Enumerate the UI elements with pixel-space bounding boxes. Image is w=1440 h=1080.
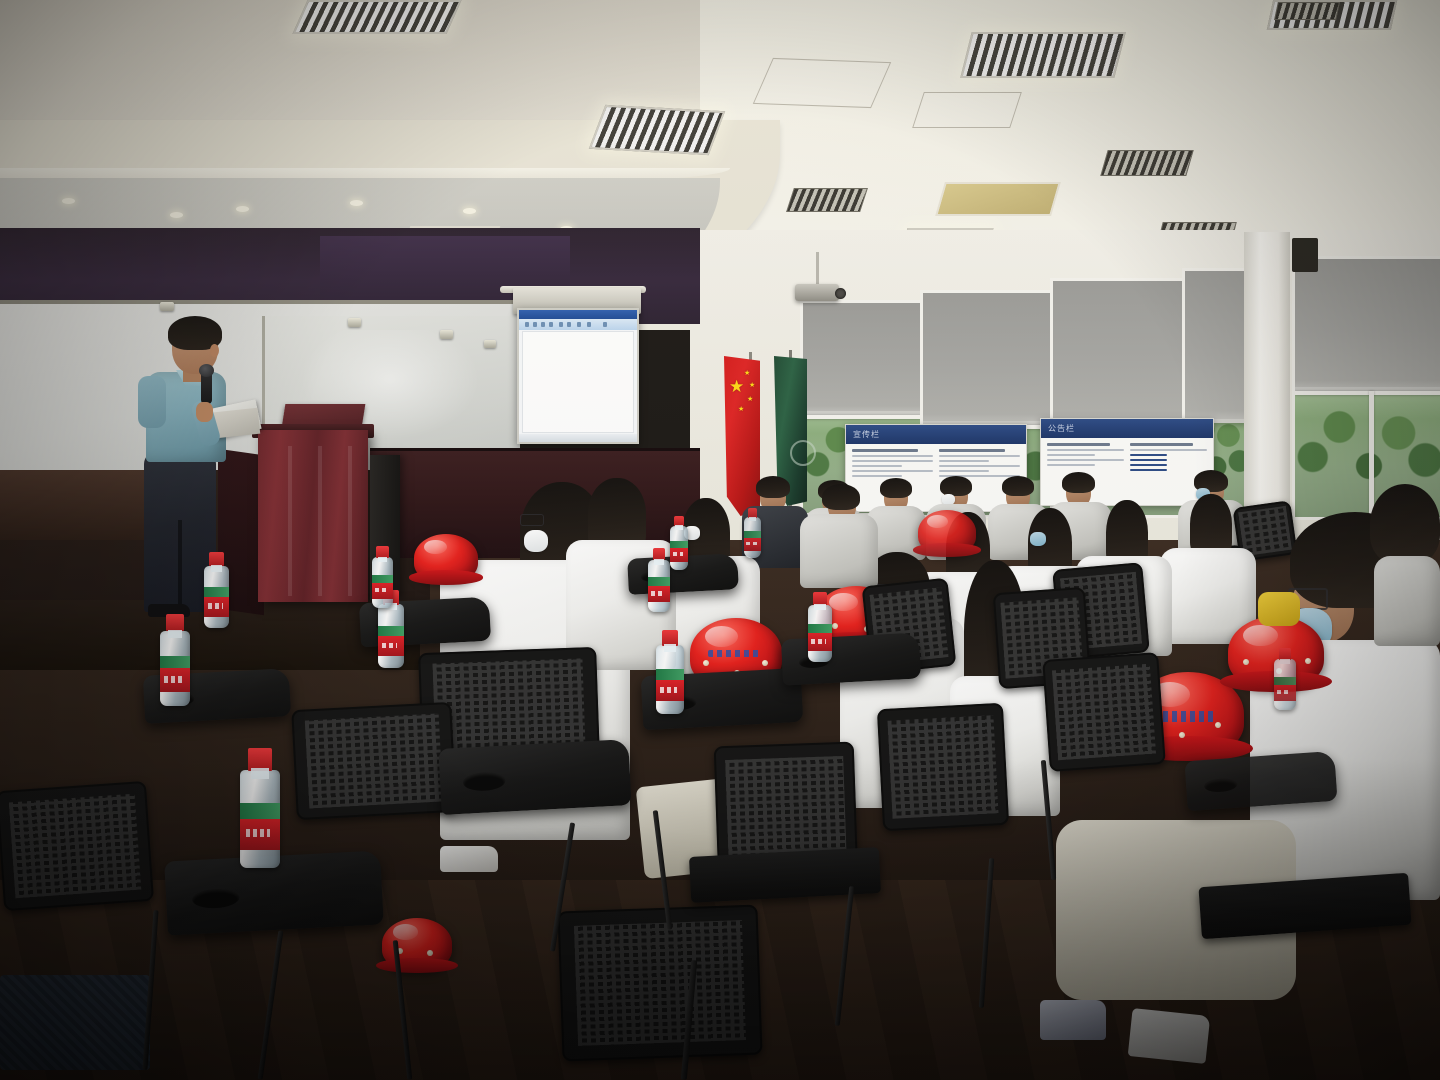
water-bottle[interactable] <box>372 546 393 608</box>
info-board-header-text: 宣传栏 <box>853 429 880 440</box>
ceiling-amber-panel <box>935 182 1061 216</box>
projector-mount-pole <box>816 252 819 286</box>
podium-rib <box>348 446 352 596</box>
writing-tablet[interactable] <box>781 632 921 685</box>
downlight-icon <box>236 206 249 212</box>
water-bottle[interactable] <box>744 508 761 558</box>
presenter-papers-2 <box>214 408 260 438</box>
presenter-ear <box>210 344 219 357</box>
whiteboard-clip <box>440 330 453 339</box>
downlight-icon <box>62 198 75 204</box>
downlight-icon <box>170 212 183 218</box>
chair-backrest[interactable] <box>0 781 154 911</box>
water-bottle[interactable] <box>240 748 280 868</box>
entry-mat <box>0 975 150 1070</box>
window-mullion <box>1369 391 1374 517</box>
chair-backrest[interactable] <box>877 703 1009 831</box>
projector <box>795 284 839 301</box>
ceiling-air-vent <box>786 188 868 212</box>
presenter-leg-split <box>178 520 182 612</box>
ceiling-access-panel <box>753 58 891 108</box>
ceiling-grid-light <box>292 0 461 34</box>
water-bottle[interactable] <box>670 516 688 570</box>
attendee-hair <box>756 476 790 498</box>
face-mask <box>1030 532 1046 546</box>
attendee-shoe <box>1128 1008 1211 1064</box>
chinese-national-flag: ★ ★ ★ ★ ★ <box>724 356 760 516</box>
downlight-icon <box>463 208 476 214</box>
water-bottle[interactable] <box>808 592 832 662</box>
attendee-hair <box>1062 472 1095 493</box>
safety-helmet[interactable] <box>918 510 976 554</box>
attendee-hair <box>880 478 912 498</box>
window-blind[interactable] <box>1295 259 1440 391</box>
eyeglasses-icon <box>520 514 544 526</box>
window-blind[interactable] <box>1185 271 1247 423</box>
attendee-hair <box>940 476 972 496</box>
water-bottle[interactable] <box>204 552 229 628</box>
attendee-hair <box>1002 476 1034 496</box>
safety-helmet[interactable] <box>414 534 478 582</box>
attendee-shoe <box>440 846 498 872</box>
screen-document-page <box>522 331 634 433</box>
water-bottle[interactable] <box>648 548 670 612</box>
chair-backrest[interactable] <box>291 702 457 820</box>
projection-screen <box>517 308 639 444</box>
podium-rib <box>318 446 322 596</box>
writing-tablet[interactable] <box>1184 751 1337 811</box>
window-mullion <box>1295 391 1440 395</box>
face-mask <box>524 530 548 552</box>
chair-backrest[interactable] <box>1042 652 1166 772</box>
ceiling-access-panel <box>912 92 1022 128</box>
writing-tablet[interactable] <box>438 739 631 815</box>
wall-speaker-icon <box>1292 238 1318 272</box>
attendee-hair <box>822 484 860 510</box>
attendee-hair <box>1190 494 1232 556</box>
info-board-left: 宣传栏 <box>845 424 1027 512</box>
screen-window-toolbar <box>519 319 637 330</box>
whiteboard-clip <box>348 318 361 327</box>
chair-backrest[interactable] <box>557 905 762 1062</box>
attendee-lab-coat <box>800 514 878 588</box>
ceiling-air-vent <box>1274 2 1340 20</box>
attendee-shoe <box>1040 1000 1106 1040</box>
presenter-sleeve <box>138 376 166 428</box>
yellow-item <box>1258 592 1300 626</box>
screen-window-titlebar <box>519 310 637 319</box>
whiteboard-clip <box>160 302 174 311</box>
window-blind[interactable] <box>1053 281 1183 425</box>
water-bottle[interactable] <box>1274 648 1296 710</box>
info-board-header-text: 公告栏 <box>1048 423 1075 434</box>
info-board-header: 宣传栏 <box>846 425 1026 444</box>
podium-rib <box>288 446 292 596</box>
projector-lens-icon <box>835 288 846 299</box>
ceiling-grid-light <box>589 105 725 155</box>
window-mullion <box>803 415 921 419</box>
window-bay <box>1292 256 1440 520</box>
whiteboard-clip <box>484 340 496 348</box>
window-blind[interactable] <box>923 293 1051 425</box>
ceiling-air-vent <box>1100 150 1193 176</box>
attendee-lab-coat <box>1374 556 1440 646</box>
water-bottle[interactable] <box>656 630 684 714</box>
microphone-head-icon <box>199 364 214 377</box>
flag-emblem-icon <box>790 440 816 466</box>
presenter-hand <box>196 402 213 422</box>
downlight-icon <box>350 200 363 206</box>
attendee-hair <box>1370 484 1440 564</box>
water-bottle[interactable] <box>160 614 190 706</box>
screen-window-statusbar <box>519 434 637 442</box>
info-board-header: 公告栏 <box>1041 419 1213 438</box>
ceiling-grid-light <box>960 32 1125 78</box>
window-blind[interactable] <box>803 303 921 415</box>
lecture-hall-photo: 宣传栏 公告栏 ★ ★ ★ ★ ★ <box>0 0 1440 1080</box>
